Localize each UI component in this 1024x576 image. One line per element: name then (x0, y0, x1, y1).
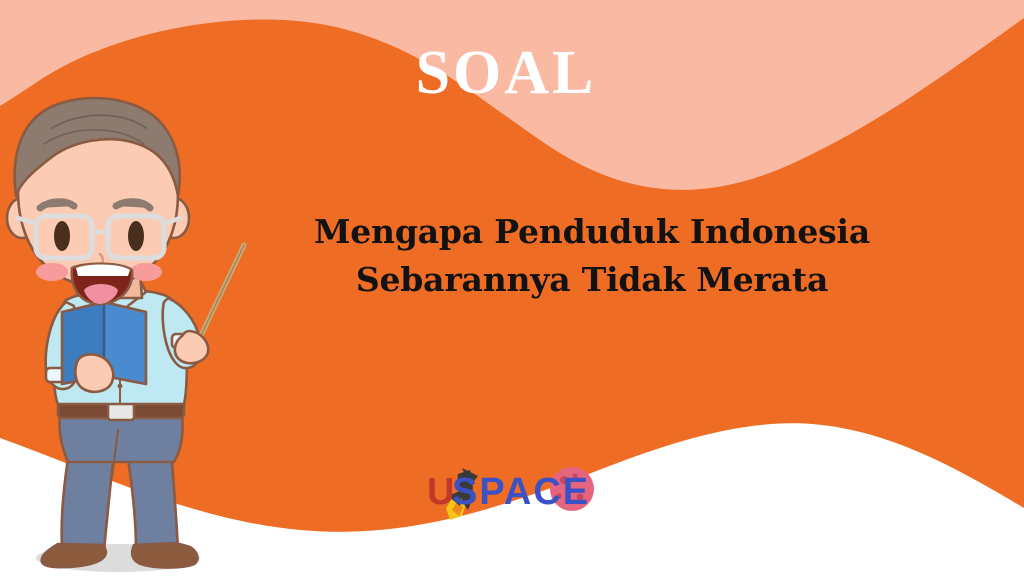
question-text: Mengapa Penduduk Indonesia Sebarannya Ti… (212, 208, 972, 304)
presentation-slide: SOAL Mengapa Penduduk Indonesia Sebarann… (0, 0, 1024, 576)
logo-letters-space: SPACE (452, 471, 590, 513)
slide-title: SOAL (0, 42, 1024, 104)
question-line-2: Sebarannya Tidak Merata (212, 256, 972, 304)
question-line-1: Mengapa Penduduk Indonesia (212, 208, 972, 256)
logo-letter-u: U (427, 471, 454, 513)
